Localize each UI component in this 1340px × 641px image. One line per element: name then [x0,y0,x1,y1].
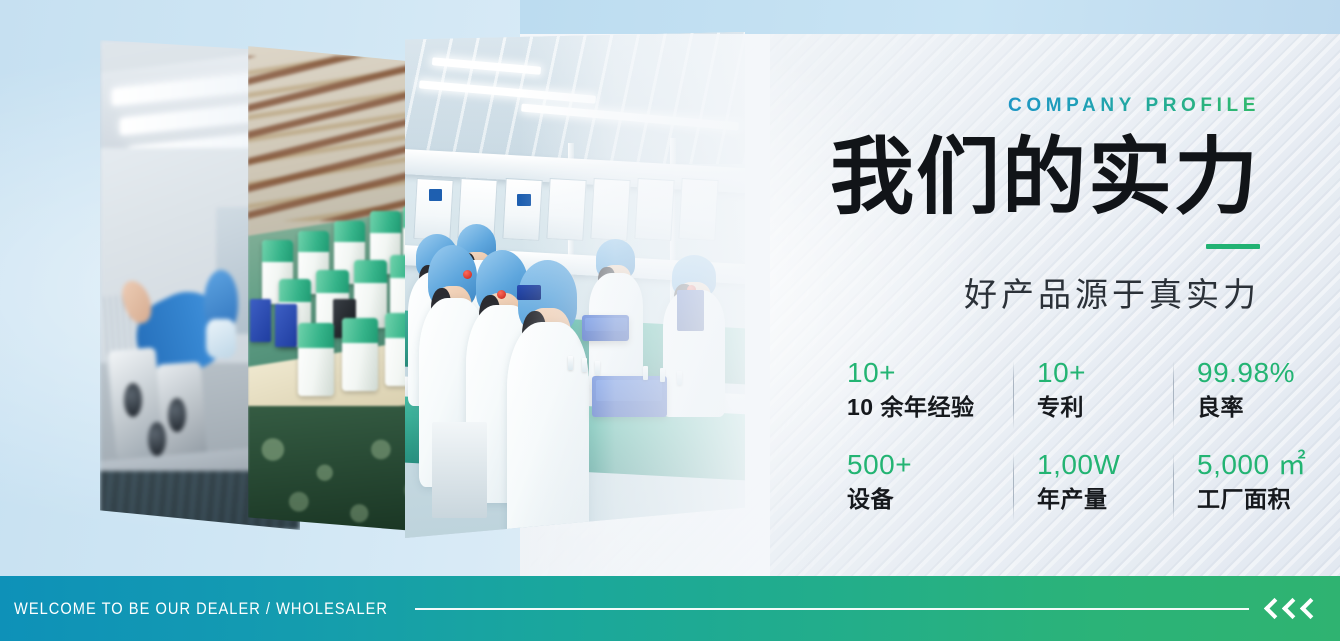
stat-value: 1,00W [1037,447,1173,482]
footer-dealer-text: WELCOME TO BE OUR DEALER / WHOLESALER [14,599,388,619]
stat-item-equipment: 500+ 设备 [845,447,1013,539]
stat-item-patents: 10+ 专利 [1013,355,1173,447]
stat-value: 10+ [847,355,1013,390]
stat-label: 10 余年经验 [847,392,1013,423]
stats-grid: 10+ 10 余年经验 10+ 专利 99.98% 良率 500+ 设备 1,0… [845,355,1305,539]
content-block: COMPANY PROFILE 我们的实力 好产品源于真实力 10+ 10 余年… [760,60,1305,540]
photo-collage [0,0,780,580]
stat-value: 500+ [847,447,1013,482]
stat-label: 年产量 [1037,484,1173,515]
stat-value: 5,000 ㎡ [1197,447,1305,482]
page-subtitle: 好产品源于真实力 [964,268,1260,316]
stat-item-annual-output: 1,00W 年产量 [1013,447,1173,539]
stat-label: 设备 [847,484,1013,515]
assembly-line-photo [405,32,745,538]
chevron-left-icon[interactable] [1300,598,1321,619]
title-underline-rule [1206,244,1260,249]
stat-item-experience: 10+ 10 余年经验 [845,355,1013,447]
footer-chevrons[interactable] [1267,601,1318,616]
stat-value: 99.98% [1197,355,1305,390]
eyebrow-label: COMPANY PROFILE [1008,95,1260,117]
stat-label: 良率 [1197,392,1305,423]
stat-label: 专利 [1037,392,1173,423]
stat-item-factory-area: 5,000 ㎡ 工厂面积 [1173,447,1305,539]
stat-item-yield-rate: 99.98% 良率 [1173,355,1305,447]
conveyor-jars-photo [248,46,428,532]
footer-divider-line [415,608,1249,610]
banner-stage: COMPANY PROFILE 我们的实力 好产品源于真实力 10+ 10 余年… [0,0,1340,641]
stat-value: 10+ [1037,355,1173,390]
footer-bar: WELCOME TO BE OUR DEALER / WHOLESALER [0,576,1340,641]
stat-label: 工厂面积 [1197,484,1305,515]
page-title: 我们的实力 [830,132,1260,223]
